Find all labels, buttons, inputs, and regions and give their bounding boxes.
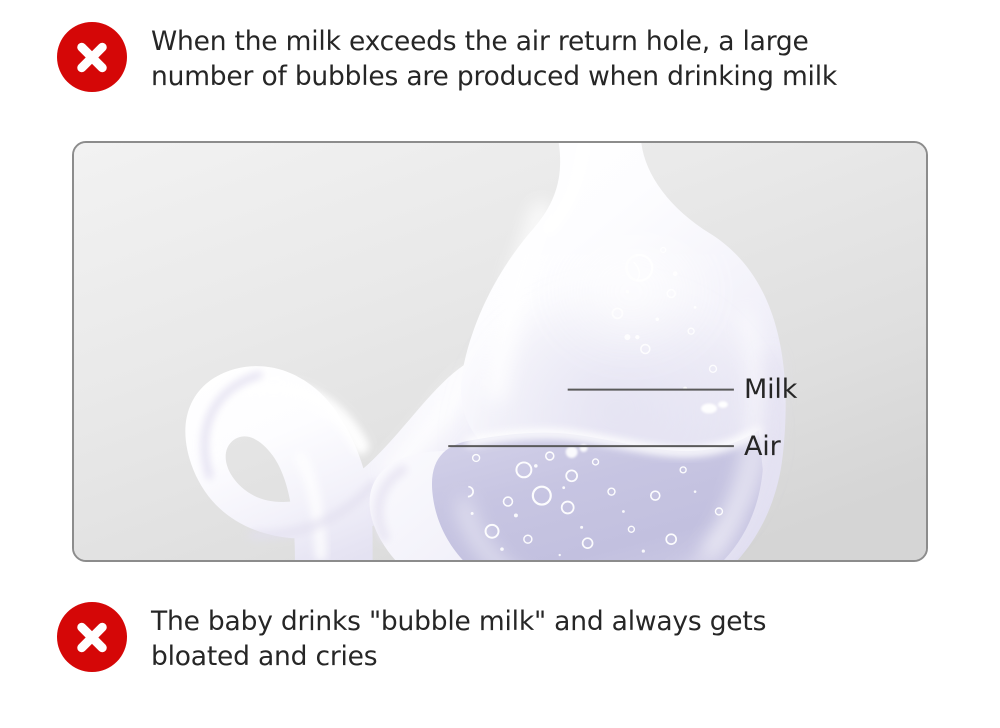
illustration-panel: [72, 141, 928, 562]
label-air: Air: [744, 433, 780, 460]
callout-bottom-text: The baby drinks "bubble milk" and always…: [151, 602, 766, 674]
callout-bottom: The baby drinks "bubble milk" and always…: [57, 602, 766, 674]
label-milk: Milk: [744, 376, 797, 403]
cross-circle-icon: [57, 602, 127, 672]
callout-top: When the milk exceeds the air return hol…: [57, 22, 837, 94]
stomach-diagram-svg: [74, 143, 926, 560]
callout-top-text: When the milk exceeds the air return hol…: [151, 22, 837, 94]
cross-circle-icon: [57, 22, 127, 92]
